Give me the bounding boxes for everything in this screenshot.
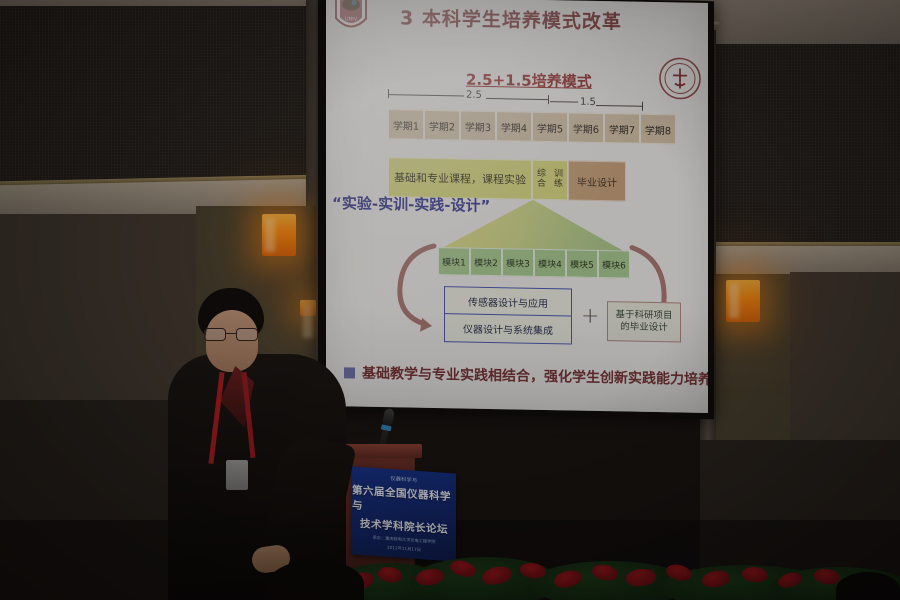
presentation-slide: UNIV 3 本科学生培养模式改革 2.5+1.5培养模式 2.5 1.5 学 [326,0,708,413]
dim-line-2-5 [388,94,464,96]
training-line1: 综合 [533,170,550,190]
audience-head [268,560,364,600]
module-box: 模块1 [438,247,470,276]
module-box: 模块5 [566,249,598,278]
thesis-line1: 基于科研项目 [615,309,672,322]
podium-sign-line1: 第六届全国仪器科学与 [352,482,456,519]
dim-line-2-5b [486,98,548,100]
semester-box: 学期2 [424,110,460,141]
photo-scene: UNIV 3 本科学生培养模式改革 2.5+1.5培养模式 2.5 1.5 学 [0,0,900,600]
ceiling-right [700,0,900,46]
semester-box: 学期8 [640,114,676,145]
speaker-person [168,288,346,600]
slide-subtitle: 2.5+1.5培养模式 [466,69,592,92]
dim-label-1-5: 1.5 [580,97,596,108]
training-line2: 训练 [550,170,567,190]
semester-box: 学期5 [532,112,568,143]
mid-wall-right [790,272,900,462]
podium-sign-top: 仪器科学与 [390,475,417,484]
module-box: 模块4 [534,249,566,278]
module-box: 模块3 [502,248,534,277]
semester-row: 学期1 学期2 学期3 学期4 学期5 学期6 学期7 学期8 [388,109,676,144]
semester-box: 学期1 [388,109,424,140]
podium-sign-footer1: 承办：重庆邮电大学光电工程学院 [373,535,436,546]
module-box: 模块6 [598,250,630,279]
slide-bullet-text: 基础教学与专业实践相结合，强化学生创新实践能力培养 [362,363,708,389]
name-badge [226,460,248,490]
speaker-face [206,310,258,372]
sensor-design-label: 传感器设计与应用 [445,287,571,316]
upper-wall-panel [0,6,306,186]
dim-tick-mid [548,95,549,104]
university-seal-logo-icon [658,56,702,101]
university-crest-logo-icon: UNIV [334,0,368,35]
semester-box: 学期7 [604,113,640,144]
eyeglasses-icon [204,328,260,341]
thesis-line2: 的毕业设计 [620,321,668,334]
dim-tick-end [642,102,643,111]
plus-sign: + [581,306,599,328]
audience-head [836,572,900,600]
wall-sconce-lamp [262,214,296,256]
mic-band [381,424,392,431]
module-box: 模块2 [470,248,502,277]
dim-label-2-5: 2.5 [466,90,482,101]
semester-box: 学期6 [568,112,604,143]
module-row: 模块1 模块2 模块3 模块4 模块5 模块6 [438,247,630,279]
svg-text:UNIV: UNIV [345,16,358,22]
pink-thesis-box: 基于科研项目 的毕业设计 [607,301,681,342]
dim-line-1-5 [550,101,578,103]
flower-arrangement [330,545,900,600]
wall-sconce-lamp [726,280,760,322]
upper-wall-panel-right [716,44,900,244]
semester-box: 学期4 [496,111,532,142]
semester-box: 学期3 [460,110,496,141]
instrument-design-label: 仪器设计与系统集成 [445,314,571,343]
blue-outcome-box: 传感器设计与应用 仪器设计与系统集成 [444,286,572,344]
dim-line-1-5b [596,105,642,107]
projection-screen: UNIV 3 本科学生培养模式改革 2.5+1.5培养模式 2.5 1.5 学 [326,0,708,413]
slide-title: 3 本科学生培养模式改革 [400,3,622,34]
